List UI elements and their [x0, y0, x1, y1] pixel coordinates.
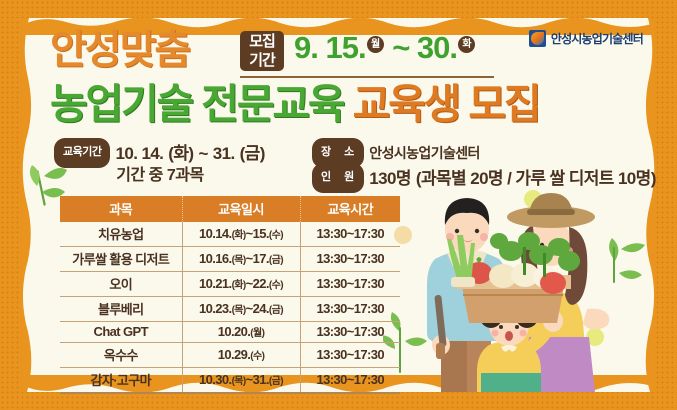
organization-logo: 안성시농업기술센터 — [529, 30, 643, 47]
headline-orange: 교육생 모집 — [353, 81, 540, 127]
recruit-period-dates: 9. 15.월 ~ 30.화 — [294, 30, 476, 66]
cell-subject: 가루쌀 활용 디저트 — [60, 247, 182, 272]
schedule-table-wrap: 과목 교육일시 교육시간 치유농업 10.14.(화)~15.(수) 13:30… — [60, 196, 400, 394]
ansung-city-emblem-icon — [529, 30, 546, 47]
table-row: 가루쌀 활용 디저트 10.16.(목)~17.(금) 13:30~17:30 — [60, 247, 400, 272]
recruit-end-date: 30. — [417, 30, 457, 65]
recruit-start-dow-chip: 월 — [367, 36, 384, 53]
cell-subject: 오이 — [60, 272, 182, 297]
capacity-value: 130명 — [369, 169, 411, 188]
table-header-row: 과목 교육일시 교육시간 — [60, 196, 400, 222]
capacity-note: (과목별 20명 / 가루 쌀 디저트 10명) — [416, 169, 656, 188]
table-row: Chat GPT 10.20.(월) 13:30~17:30 — [60, 322, 400, 343]
recruit-period-badge: 모집 기간 — [240, 31, 284, 71]
table-row: 옥수수 10.29.(수) 13:30~17:30 — [60, 343, 400, 368]
cell-subject: 블루베리 — [60, 297, 182, 322]
col-header-time: 교육시간 — [300, 196, 400, 222]
farming-family-illustration — [383, 177, 651, 392]
cell-time: 13:30~17:30 — [300, 272, 400, 297]
cell-subject: Chat GPT — [60, 322, 182, 343]
poster-root: 안성맞춤 모집 기간 9. 15.월 ~ 30.화 안성시농업기술센터 농업기술… — [0, 0, 677, 410]
cell-date: 10.30.(목)~31.(금) — [182, 368, 300, 394]
edu-period-tilde: ~ — [198, 144, 207, 163]
table-row: 블루베리 10.23.(목)~24.(금) 13:30~17:30 — [60, 297, 400, 322]
header-underline — [240, 76, 494, 78]
recruit-badge-line1: 모집 — [240, 32, 284, 51]
table-row: 치유농업 10.14.(화)~15.(수) 13:30~17:30 — [60, 222, 400, 247]
poster-title-main: 안성맞춤 — [50, 30, 189, 70]
capacity-row: 인 원130명(과목별 20명 / 가루 쌀 디저트 10명) — [312, 163, 672, 188]
edu-period-dow-start: (화) — [168, 144, 193, 163]
cell-time: 13:30~17:30 — [300, 368, 400, 394]
cell-time: 13:30~17:30 — [300, 297, 400, 322]
cell-date: 10.29.(수) — [182, 343, 300, 368]
edu-period-row: 교육기간10. 14.(화)~31.(금) — [54, 138, 304, 163]
info-block: 교육기간10. 14.(화)~31.(금) 기간 중 7과목 장 소안성시농업기… — [54, 138, 654, 190]
capacity-label: 인 원 — [312, 163, 364, 193]
info-left-column: 교육기간10. 14.(화)~31.(금) 기간 중 7과목 — [54, 138, 304, 188]
cell-time: 13:30~17:30 — [300, 322, 400, 343]
poster-sheet: 안성맞춤 모집 기간 9. 15.월 ~ 30.화 안성시농업기술센터 농업기술… — [22, 18, 655, 392]
cell-subject: 치유농업 — [60, 222, 182, 247]
edu-period-dow-end: (금) — [240, 144, 265, 163]
place-row: 장 소안성시농업기술센터 — [312, 138, 672, 163]
cell-date: 10.21.(화)~22.(수) — [182, 272, 300, 297]
edu-period-value: 10. 14. — [115, 144, 163, 163]
cell-date: 10.14.(화)~15.(수) — [182, 222, 300, 247]
schedule-table-body: 치유농업 10.14.(화)~15.(수) 13:30~17:30 가루쌀 활용… — [60, 222, 400, 393]
cell-date: 10.20.(월) — [182, 322, 300, 343]
cell-date: 10.16.(목)~17.(금) — [182, 247, 300, 272]
headline-green-1: 농업기술 — [50, 81, 192, 127]
cell-time: 13:30~17:30 — [300, 247, 400, 272]
col-header-date: 교육일시 — [182, 196, 300, 222]
col-header-subject: 과목 — [60, 196, 182, 222]
poster-headline: 농업기술 전문교육 교육생 모집 — [50, 84, 539, 125]
edu-period-label: 교육기간 — [54, 138, 110, 168]
recruit-badge-line2: 기간 — [240, 51, 284, 70]
info-right-column: 장 소안성시농업기술센터 인 원130명(과목별 20명 / 가루 쌀 디저트 … — [312, 138, 672, 188]
table-row: 감자·고구마 10.30.(목)~31.(금) 13:30~17:30 — [60, 368, 400, 394]
recruit-start-date: 9. 15. — [294, 30, 366, 65]
cell-subject: 감자·고구마 — [60, 368, 182, 394]
recruit-tilde: ~ — [392, 30, 409, 65]
headline-green-2: 전문교육 — [201, 81, 343, 127]
edu-period-value-end: 31. — [213, 144, 235, 163]
table-row: 오이 10.21.(화)~22.(수) 13:30~17:30 — [60, 272, 400, 297]
cell-time: 13:30~17:30 — [300, 343, 400, 368]
place-value: 안성시농업기술센터 — [369, 145, 480, 161]
cell-time: 13:30~17:30 — [300, 222, 400, 247]
organization-name: 안성시농업기술센터 — [551, 30, 643, 47]
recruit-end-dow-chip: 화 — [458, 36, 475, 53]
schedule-table: 과목 교육일시 교육시간 치유농업 10.14.(화)~15.(수) 13:30… — [60, 196, 400, 394]
cell-subject: 옥수수 — [60, 343, 182, 368]
cell-date: 10.23.(목)~24.(금) — [182, 297, 300, 322]
